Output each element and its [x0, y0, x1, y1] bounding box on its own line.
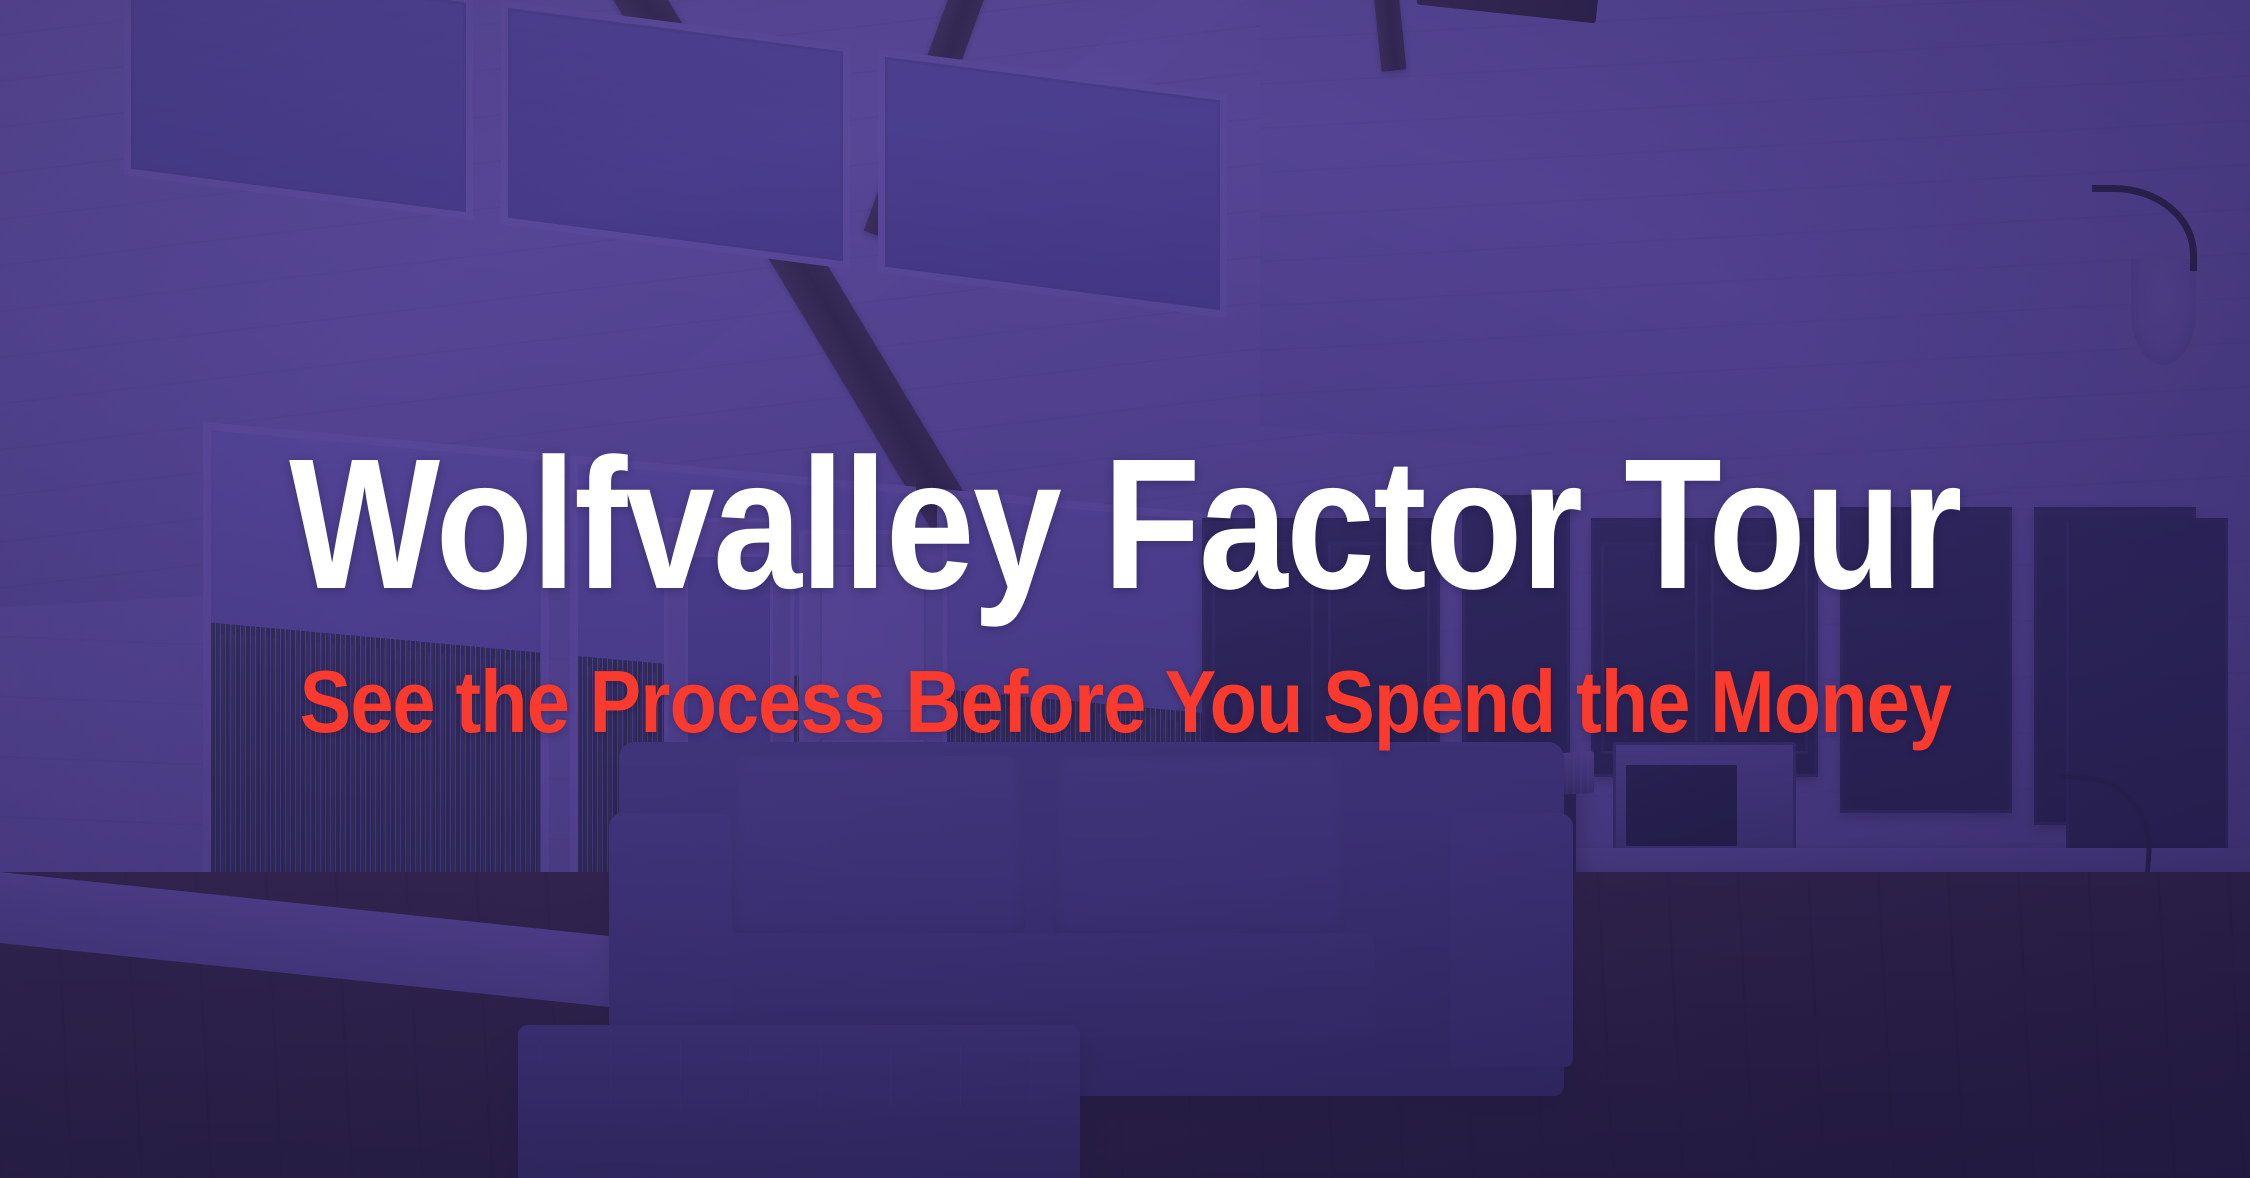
page-title: Wolfvalley Factor Tour: [289, 432, 1961, 618]
hero-copy: Wolfvalley Factor Tour See the Process B…: [0, 0, 2250, 1178]
hero-banner: Wolfvalley Factor Tour See the Process B…: [0, 0, 2250, 1178]
page-subtitle: See the Process Before You Spend the Mon…: [299, 658, 1950, 746]
